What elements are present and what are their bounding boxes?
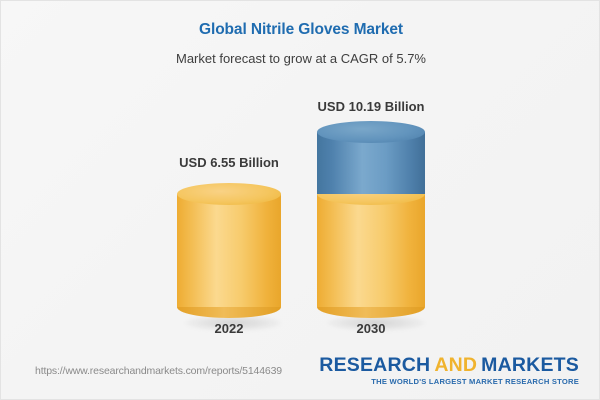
axis-label-2030: 2030: [287, 321, 455, 336]
chart-subtitle: Market forecast to grow at a CAGR of 5.7…: [1, 51, 600, 66]
brand-wordmark: RESEARCHANDMARKETS: [319, 355, 579, 375]
brand-logo[interactable]: RESEARCHANDMARKETS THE WORLD'S LARGEST M…: [319, 355, 579, 386]
cylinder-2030: [317, 121, 425, 307]
brand-word-and: AND: [434, 354, 477, 376]
value-label-2030: USD 10.19 Billion: [287, 99, 455, 114]
value-label-2022: USD 6.55 Billion: [147, 155, 311, 170]
chart-card: Global Nitrile Gloves Market Market fore…: [0, 0, 600, 400]
chart-footer: https://www.researchandmarkets.com/repor…: [1, 347, 600, 399]
cylinder-top-2022: [177, 183, 281, 205]
cylinder-top-2030: [317, 121, 425, 143]
cylinder-body-2022: [177, 194, 281, 307]
cylinder-2022: [177, 183, 281, 307]
bar-2030[interactable]: USD 10.19 Billion 2030: [317, 81, 425, 341]
brand-word-research: RESEARCH: [319, 354, 430, 376]
brand-tagline: THE WORLD'S LARGEST MARKET RESEARCH STOR…: [319, 377, 579, 386]
bar-2022[interactable]: USD 6.55 Billion 2022: [177, 81, 281, 341]
source-url[interactable]: https://www.researchandmarkets.com/repor…: [35, 365, 282, 377]
cylinder-segment-base-2030[interactable]: [317, 194, 425, 307]
plot-area: USD 6.55 Billion 2022 USD 10.19 Billion: [1, 81, 600, 341]
chart-title: Global Nitrile Gloves Market: [1, 21, 600, 39]
brand-word-markets: MARKETS: [481, 354, 579, 376]
